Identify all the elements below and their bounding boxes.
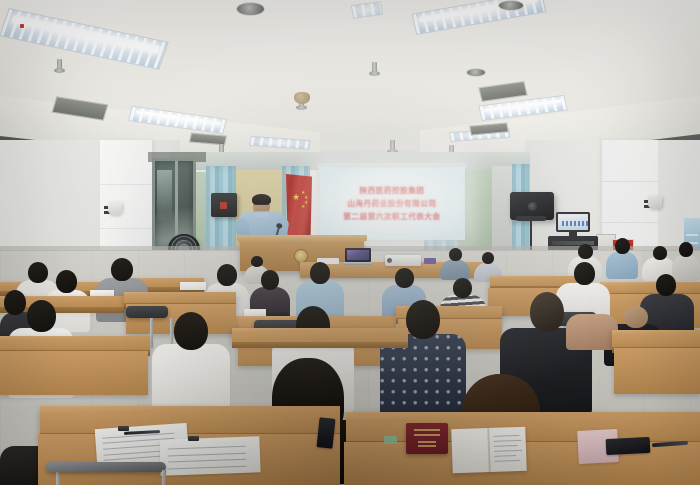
audience-person — [606, 238, 638, 278]
desk-front-panel — [0, 351, 148, 395]
binder-clip — [188, 436, 199, 441]
fluorescent-light-icon — [0, 8, 169, 70]
document — [159, 436, 260, 475]
desk — [612, 330, 700, 348]
small-device — [424, 258, 436, 264]
ceiling-downlight-icon — [466, 68, 486, 77]
chair-frame — [46, 462, 166, 472]
presenter-badge — [20, 24, 24, 28]
projector — [385, 255, 421, 266]
desk — [232, 328, 408, 343]
fluorescent-light-icon — [412, 0, 547, 35]
ceiling-downlight-icon — [236, 2, 265, 16]
projector-screen: 陕西医药控股集团 山海丹药业股份有限公司 第二届第六次职工代表大会 — [319, 167, 465, 240]
smoke-detector-icon — [294, 92, 310, 104]
slide-text-line-1: 陕西医药控股集团 — [360, 185, 425, 196]
smartphone — [606, 437, 651, 455]
air-vent-icon — [478, 81, 527, 102]
fluorescent-light-icon — [351, 1, 383, 19]
control-monitor — [556, 212, 590, 236]
wall-speaker-bracket-icon — [644, 196, 662, 212]
green-marker-chip — [384, 436, 397, 444]
flag-shading — [286, 174, 312, 240]
desk — [0, 336, 150, 351]
red-hardcover-book — [406, 423, 448, 454]
desk — [40, 406, 340, 434]
wall-mounted-speaker — [211, 193, 237, 217]
wall-speaker-bracket-icon — [104, 202, 122, 218]
podium-emblem — [294, 249, 308, 263]
audience-arm — [566, 300, 618, 348]
sprinkler-head-icon — [57, 59, 62, 70]
chair-leg — [162, 470, 166, 485]
desk — [124, 292, 236, 304]
conference-room-photo: 陕西医药控股集团 山海丹药业股份有限公司 第二届第六次职工代表大会 ★ ★ ★ … — [0, 0, 700, 485]
ceiling-downlight-icon — [498, 0, 524, 11]
slide-text-line-2: 山海丹药业股份有限公司 — [347, 198, 436, 209]
smartphone-in-hand[interactable] — [316, 417, 335, 449]
slide-text-line-3: 第二届第六次职工代表大会 — [343, 211, 440, 222]
laptop — [344, 248, 372, 265]
document — [180, 282, 206, 290]
open-notebook — [451, 427, 526, 474]
sprinkler-head-icon — [372, 62, 377, 73]
sprinkler-head-icon — [390, 140, 395, 151]
binder-clip — [118, 426, 129, 431]
desk-front-panel — [614, 348, 700, 394]
audience-person — [440, 248, 470, 278]
